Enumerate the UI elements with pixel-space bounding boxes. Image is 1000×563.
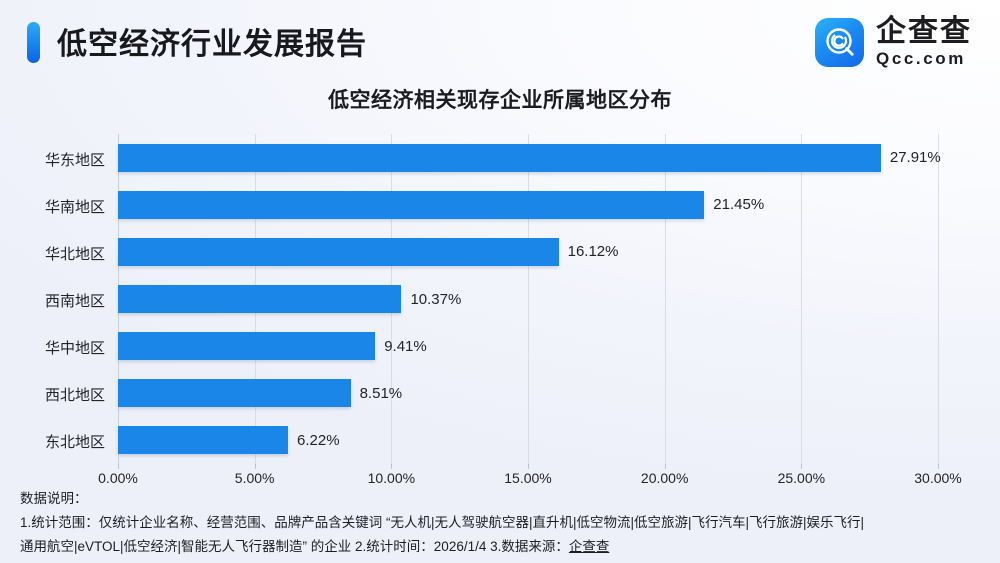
tick-mark bbox=[118, 464, 119, 469]
tick-label: 20.00% bbox=[641, 470, 688, 486]
category-label: 西南地区 bbox=[0, 290, 105, 311]
bar-row[interactable]: 27.91% bbox=[118, 134, 941, 181]
qcc-logo-icon bbox=[815, 18, 864, 67]
bar[interactable] bbox=[118, 191, 704, 219]
bar-row[interactable]: 10.37% bbox=[118, 276, 461, 323]
tick-label: 30.00% bbox=[914, 470, 961, 486]
brand-name-cn: 企查查 bbox=[876, 17, 972, 47]
plot-area: 27.91%21.45%16.12%10.37%9.41%8.51%6.22% bbox=[118, 134, 938, 464]
tick-mark bbox=[255, 464, 256, 469]
bar-value-label: 8.51% bbox=[360, 385, 403, 402]
gridline bbox=[801, 134, 802, 464]
bar-row[interactable]: 9.41% bbox=[118, 323, 427, 370]
brand-name-en: Qcc.com bbox=[876, 50, 972, 67]
bar-row[interactable]: 8.51% bbox=[118, 370, 402, 417]
bar[interactable] bbox=[118, 144, 881, 172]
category-label: 华东地区 bbox=[0, 149, 105, 170]
title-accent-bar bbox=[27, 22, 40, 63]
category-label: 西北地区 bbox=[0, 384, 105, 405]
footnote-source-link[interactable]: 企查查 bbox=[569, 539, 610, 554]
tick-mark bbox=[801, 464, 802, 469]
footnote-heading: 数据说明： bbox=[20, 487, 88, 507]
tick-label: 25.00% bbox=[778, 470, 825, 486]
tick-label: 15.00% bbox=[504, 470, 551, 486]
gridline bbox=[938, 134, 939, 464]
bar-value-label: 16.12% bbox=[568, 243, 619, 260]
tick-mark bbox=[665, 464, 666, 469]
category-label: 华南地区 bbox=[0, 196, 105, 217]
bar-value-label: 10.37% bbox=[410, 291, 461, 308]
bar[interactable] bbox=[118, 332, 375, 360]
brand-logo[interactable]: 企查查 Qcc.com bbox=[815, 17, 972, 67]
bar-row[interactable]: 16.12% bbox=[118, 228, 618, 275]
bar-chart: 27.91%21.45%16.12%10.37%9.41%8.51%6.22% … bbox=[0, 126, 1000, 481]
tick-label: 0.00% bbox=[98, 470, 138, 486]
bar-value-label: 9.41% bbox=[384, 338, 427, 355]
report-page: 低空经济行业发展报告 企查查 Qcc.com 低空经济相关现存企业所属地区分布 … bbox=[0, 0, 1000, 563]
brand-text: 企查查 Qcc.com bbox=[876, 17, 972, 67]
footnote-line-2: 通用航空|eVTOL|低空经济|智能无人飞行器制造” 的企业 2.统计时间：20… bbox=[20, 535, 609, 555]
bar-row[interactable]: 6.22% bbox=[118, 417, 340, 464]
tick-mark bbox=[391, 464, 392, 469]
bar[interactable] bbox=[118, 379, 351, 407]
page-title: 低空经济行业发展报告 bbox=[57, 19, 367, 63]
category-label: 东北地区 bbox=[0, 431, 105, 452]
bar[interactable] bbox=[118, 285, 401, 313]
category-label: 华北地区 bbox=[0, 243, 105, 264]
tick-mark bbox=[528, 464, 529, 469]
page-header: 低空经济行业发展报告 企查查 Qcc.com bbox=[0, 0, 1000, 80]
bar-value-label: 27.91% bbox=[890, 149, 941, 166]
category-label: 华中地区 bbox=[0, 337, 105, 358]
bar-value-label: 21.45% bbox=[713, 196, 764, 213]
footnote-line-2-text: 通用航空|eVTOL|低空经济|智能无人飞行器制造” 的企业 2.统计时间：20… bbox=[20, 539, 569, 554]
bar[interactable] bbox=[118, 238, 559, 266]
tick-mark bbox=[938, 464, 939, 469]
bar[interactable] bbox=[118, 426, 288, 454]
tick-label: 10.00% bbox=[368, 470, 415, 486]
bar-value-label: 6.22% bbox=[297, 432, 340, 449]
chart-title: 低空经济相关现存企业所属地区分布 bbox=[0, 84, 1000, 114]
footnote-line-1: 1.统计范围：仅统计企业名称、经营范围、品牌产品含关键词 “无人机|无人驾驶航空… bbox=[20, 511, 864, 531]
bar-row[interactable]: 21.45% bbox=[118, 181, 764, 228]
tick-label: 5.00% bbox=[235, 470, 275, 486]
